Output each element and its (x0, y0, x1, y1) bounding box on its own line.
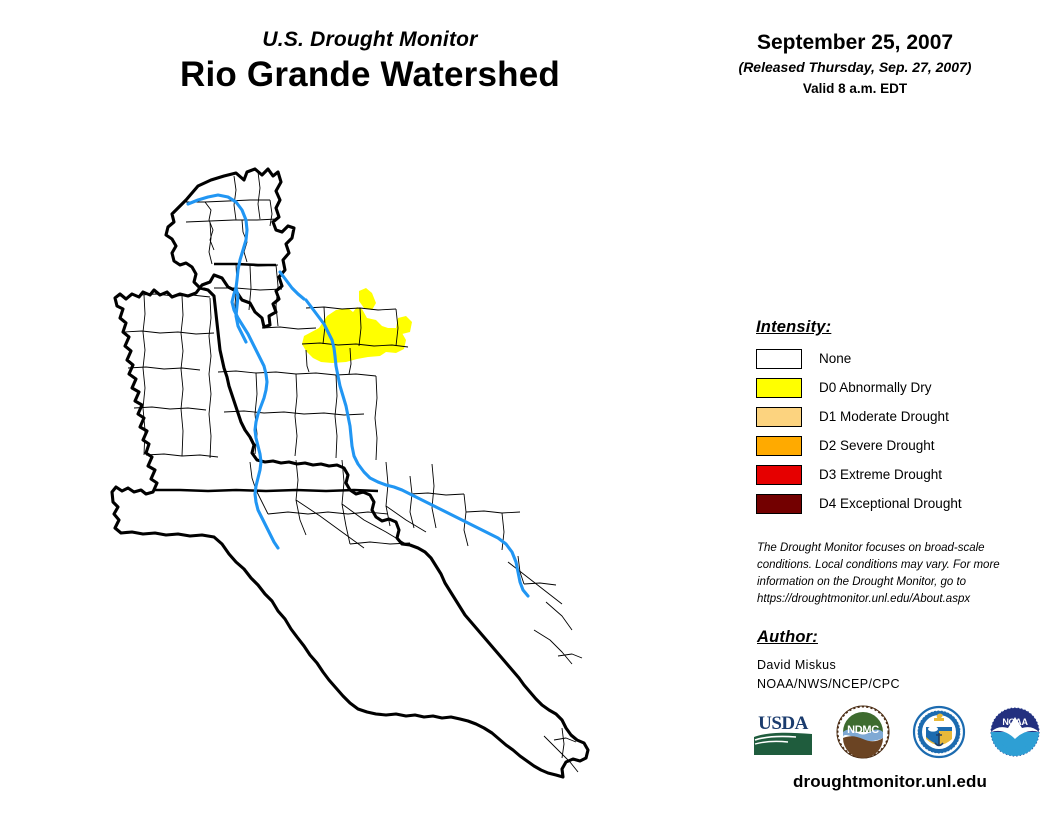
author-title: Author: (757, 628, 1037, 647)
legend-swatch-none (756, 349, 802, 369)
intensity-legend: Intensity: None D0 Abnormally Dry D1 Mod… (756, 318, 1036, 521)
county-boundaries (124, 172, 582, 772)
legend-label-d3: D3 Extreme Drought (819, 468, 942, 482)
legend-item-d0[interactable]: D0 Abnormally Dry (756, 376, 1036, 400)
release-date: (Released Thursday, Sep. 27, 2007) (700, 58, 1010, 77)
rio-grande-river (188, 195, 528, 596)
legend-item-d1[interactable]: D1 Moderate Drought (756, 405, 1036, 429)
author-affiliation: NOAA/NWS/NCEP/CPC (757, 675, 1037, 694)
legend-swatch-d0 (756, 378, 802, 398)
legend-label-none: None (819, 352, 851, 366)
usda-logo: USDA (752, 707, 814, 757)
site-url[interactable]: droughtmonitor.unl.edu (740, 772, 1040, 792)
legend-label-d0: D0 Abnormally Dry (819, 381, 932, 395)
noaa-logo: NOAA (988, 705, 1042, 759)
legend-item-d4[interactable]: D4 Exceptional Drought (756, 492, 1036, 516)
legend-swatch-d3 (756, 465, 802, 485)
page-title: U.S. Drought Monitor Rio Grande Watershe… (60, 28, 680, 95)
svg-text:NOAA: NOAA (1002, 717, 1028, 727)
valid-time: Valid 8 a.m. EDT (700, 80, 1010, 98)
program-title: U.S. Drought Monitor (60, 28, 680, 51)
legend-label-d2: D2 Severe Drought (819, 439, 935, 453)
svg-text:USDA: USDA (758, 713, 809, 734)
disclaimer-text: The Drought Monitor focuses on broad-sca… (757, 540, 1025, 608)
legend-label-d1: D1 Moderate Drought (819, 410, 949, 424)
legend-title: Intensity: (756, 318, 1036, 337)
legend-swatch-d1 (756, 407, 802, 427)
agency-logo-row: USDA NDMC NOAA (752, 703, 1042, 761)
legend-item-none[interactable]: None (756, 347, 1036, 371)
legend-label-d4: D4 Exceptional Drought (819, 497, 962, 511)
legend-swatch-d4 (756, 494, 802, 514)
nws-logo (912, 705, 966, 759)
region-title: Rio Grande Watershed (60, 55, 680, 95)
date-block: September 25, 2007 (Released Thursday, S… (700, 30, 1010, 98)
author-block: Author: David Miskus NOAA/NWS/NCEP/CPC (757, 628, 1037, 694)
legend-item-d2[interactable]: D2 Severe Drought (756, 434, 1036, 458)
valid-date: September 25, 2007 (700, 30, 1010, 55)
watershed-boundary (112, 169, 588, 777)
legend-swatch-d2 (756, 436, 802, 456)
legend-item-d3[interactable]: D3 Extreme Drought (756, 463, 1036, 487)
drought-area-d0 (302, 288, 412, 363)
author-name: David Miskus (757, 656, 1037, 675)
ndmc-logo: NDMC (836, 705, 890, 759)
drought-map[interactable] (110, 160, 670, 800)
svg-text:NDMC: NDMC (847, 724, 879, 736)
